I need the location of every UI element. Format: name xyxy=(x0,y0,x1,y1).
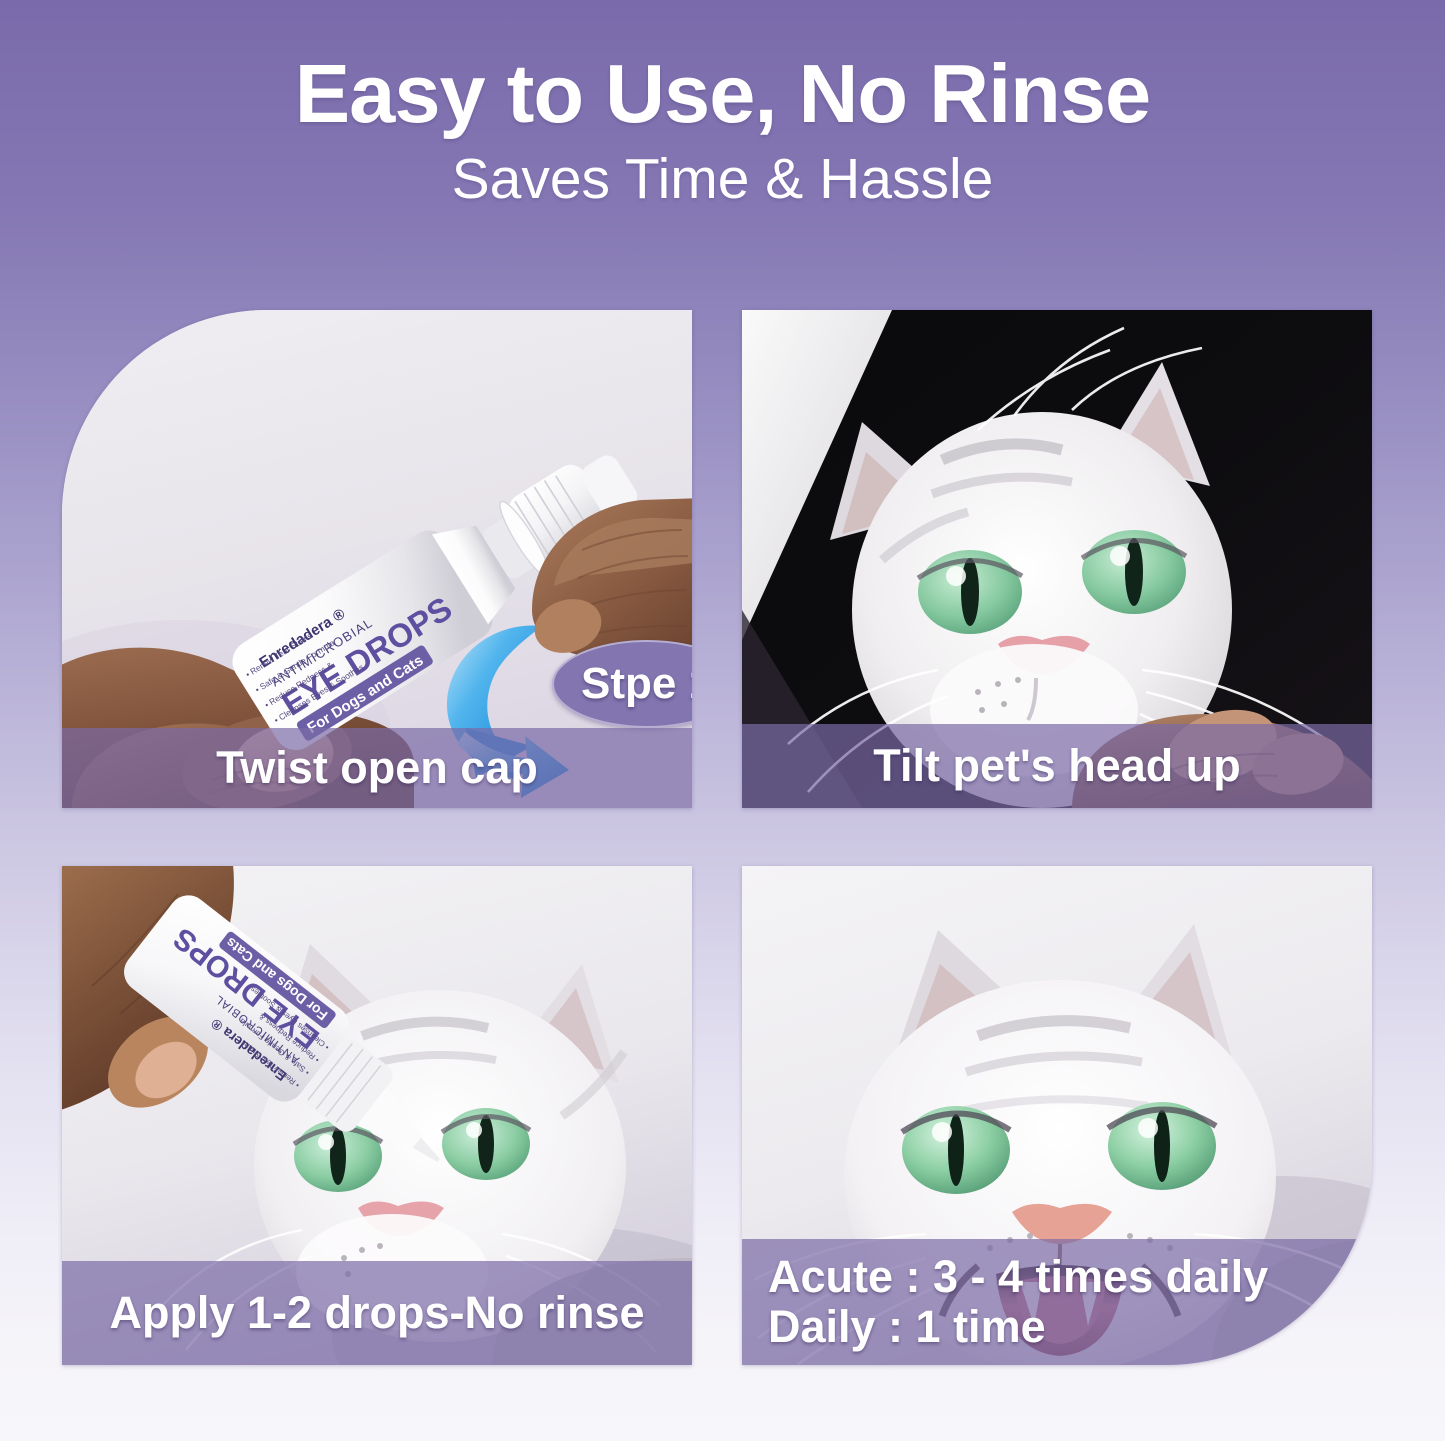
panel-caption-2: Tilt pet's head up xyxy=(742,724,1372,808)
cat-eye-treated xyxy=(294,1120,382,1192)
header: Easy to Use, No Rinse Saves Time & Hassl… xyxy=(0,0,1445,208)
step-panel-1: Enredadera ® ANTIMICROBIAL EYE DROPS For… xyxy=(62,310,692,808)
cat-eye-other xyxy=(442,1108,530,1180)
cat-eye-right xyxy=(1082,530,1186,614)
caption-text-2: Tilt pet's head up xyxy=(873,740,1240,792)
step-panel-3: Enredadera ® ANTIMICROBIAL EYE DROPS For… xyxy=(62,866,692,1365)
caption-text-1: Twist open cap xyxy=(216,742,538,794)
cat-eye-left-4 xyxy=(902,1106,1010,1194)
caption-text-4-line2: Daily : 1 time xyxy=(768,1302,1046,1352)
caption-text-3: Apply 1-2 drops-No rinse xyxy=(109,1287,644,1339)
cat-eye-left xyxy=(918,550,1022,634)
panel-caption-1: Twist open cap xyxy=(62,728,692,808)
cat-eye-right-4 xyxy=(1108,1102,1216,1190)
page-title: Easy to Use, No Rinse xyxy=(0,52,1445,135)
panel-caption-4: Acute : 3 - 4 times daily Daily : 1 time xyxy=(742,1239,1372,1365)
step-panel-4: Stpe 4 Acute : 3 - 4 times daily Daily :… xyxy=(742,866,1372,1365)
page-subtitle: Saves Time & Hassle xyxy=(0,151,1445,208)
caption-text-4-line1: Acute : 3 - 4 times daily xyxy=(768,1252,1268,1302)
panel-caption-3: Apply 1-2 drops-No rinse xyxy=(62,1261,692,1365)
step-panel-2: Stpe 2 Tilt pet's head up xyxy=(742,310,1372,808)
